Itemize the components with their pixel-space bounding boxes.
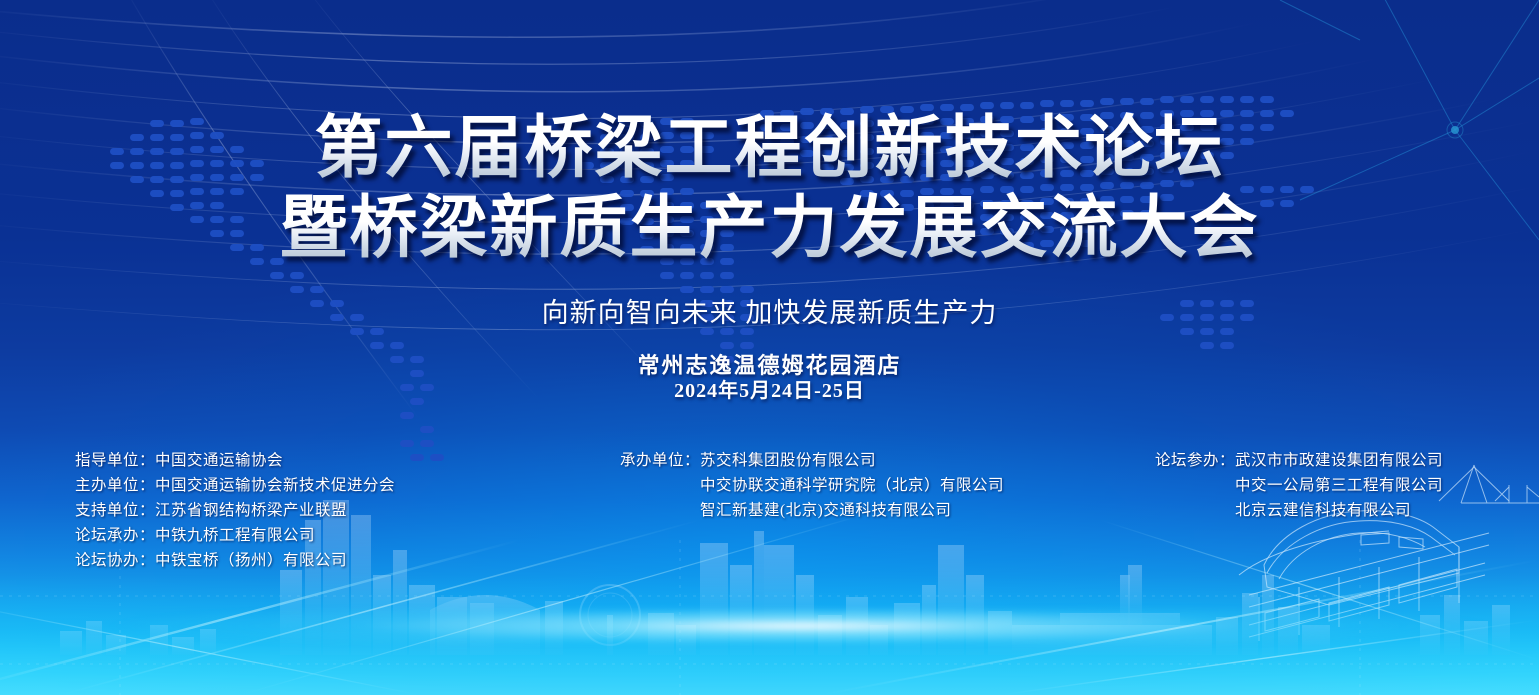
org-row: 承办单位： 中交协联交通科学研究院（北京）有限公司 xyxy=(620,473,1004,498)
org-value: 中交一公局第三工程有限公司 xyxy=(1235,473,1443,498)
organizations-middle-column: 承办单位： 苏交科集团股份有限公司 承办单位： 中交协联交通科学研究院（北京）有… xyxy=(620,448,1004,523)
conference-banner: 第六届桥梁工程创新技术论坛 暨桥梁新质生产力发展交流大会 向新向智向未来 加快发… xyxy=(0,0,1539,695)
org-label: 承办单位： xyxy=(620,448,700,473)
org-label: 论坛承办： xyxy=(75,523,155,548)
org-row: 指导单位： 中国交通运输协会 xyxy=(75,448,395,473)
org-value: 中铁宝桥（扬州）有限公司 xyxy=(155,548,347,573)
org-row: 论坛参办： 中交一公局第三工程有限公司 xyxy=(1155,473,1443,498)
org-value: 北京云建信科技有限公司 xyxy=(1235,498,1411,523)
organizations-block: 指导单位： 中国交通运输协会 主办单位： 中国交通运输协会新技术促进分会 支持单… xyxy=(0,448,1539,568)
org-value: 中铁九桥工程有限公司 xyxy=(155,523,315,548)
banner-content: 第六届桥梁工程创新技术论坛 暨桥梁新质生产力发展交流大会 向新向智向未来 加快发… xyxy=(0,0,1539,695)
title-line-2: 暨桥梁新质生产力发展交流大会 xyxy=(0,188,1539,268)
org-value: 江苏省钢结构桥梁产业联盟 xyxy=(155,498,347,523)
title-line-1: 第六届桥梁工程创新技术论坛 xyxy=(0,108,1539,188)
organizations-left-column: 指导单位： 中国交通运输协会 主办单位： 中国交通运输协会新技术促进分会 支持单… xyxy=(75,448,395,573)
org-label: 支持单位： xyxy=(75,498,155,523)
org-row: 论坛协办： 中铁宝桥（扬州）有限公司 xyxy=(75,548,395,573)
org-label: 论坛参办： xyxy=(1155,448,1235,473)
main-title-block: 第六届桥梁工程创新技术论坛 暨桥梁新质生产力发展交流大会 xyxy=(0,108,1539,268)
org-row: 论坛参办： 武汉市市政建设集团有限公司 xyxy=(1155,448,1443,473)
org-value: 中国交通运输协会新技术促进分会 xyxy=(155,473,395,498)
org-label: 指导单位： xyxy=(75,448,155,473)
org-label: 主办单位： xyxy=(75,473,155,498)
org-row: 支持单位： 江苏省钢结构桥梁产业联盟 xyxy=(75,498,395,523)
org-row: 论坛承办： 中铁九桥工程有限公司 xyxy=(75,523,395,548)
org-value: 武汉市市政建设集团有限公司 xyxy=(1235,448,1443,473)
org-value: 苏交科集团股份有限公司 xyxy=(700,448,876,473)
organizations-right-column: 论坛参办： 武汉市市政建设集团有限公司 论坛参办： 中交一公局第三工程有限公司 … xyxy=(1155,448,1443,523)
event-dates: 2024年5月24日-25日 xyxy=(0,378,1539,404)
org-row: 承办单位： 苏交科集团股份有限公司 xyxy=(620,448,1004,473)
org-value: 智汇新基建(北京)交通科技有限公司 xyxy=(700,498,951,523)
org-row: 主办单位： 中国交通运输协会新技术促进分会 xyxy=(75,473,395,498)
venue-name: 常州志逸温德姆花园酒店 xyxy=(0,352,1539,380)
org-label: 论坛协办： xyxy=(75,548,155,573)
subtitle: 向新向智向未来 加快发展新质生产力 xyxy=(0,296,1539,330)
org-row: 论坛参办： 北京云建信科技有限公司 xyxy=(1155,498,1443,523)
org-value: 中国交通运输协会 xyxy=(155,448,283,473)
org-row: 承办单位： 智汇新基建(北京)交通科技有限公司 xyxy=(620,498,1004,523)
org-value: 中交协联交通科学研究院（北京）有限公司 xyxy=(700,473,1004,498)
